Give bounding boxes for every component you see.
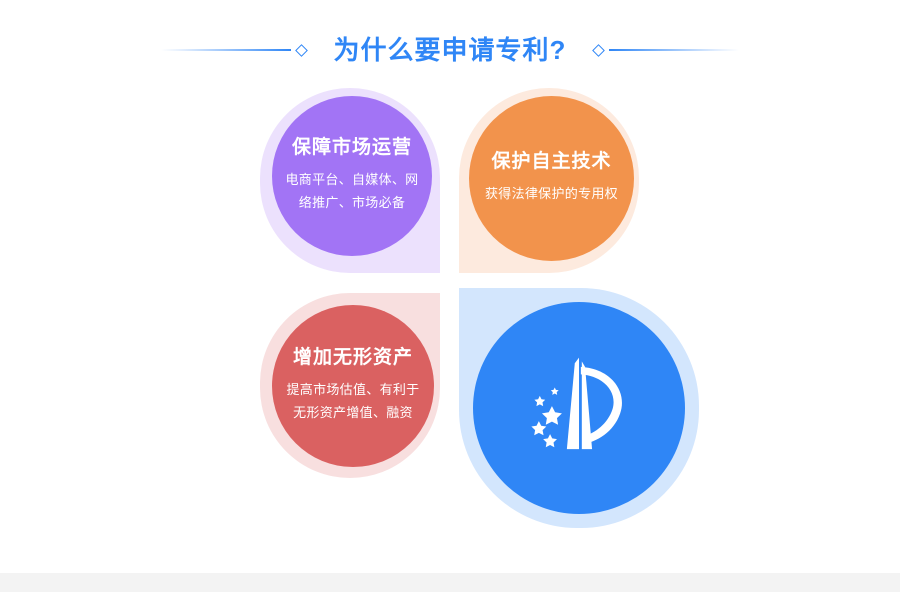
benefit-card-intangible-assets[interactable]: 增加无形资产 提高市场估值、有利于无形资产增值、融资	[260, 293, 440, 478]
diamond-outline-icon-right	[593, 44, 606, 57]
benefit-card-technology-protection[interactable]: 保护自主技术 获得法律保护的专用权	[459, 88, 639, 273]
card-description: 提高市场估值、有利于无形资产增值、融资	[282, 379, 424, 425]
brand-logo-card[interactable]	[459, 288, 699, 528]
heading-line-right	[609, 49, 739, 51]
card-description: 电商平台、自媒体、网络推广、市场必备	[281, 169, 423, 215]
card-disc: 保护自主技术 获得法律保护的专用权	[469, 96, 634, 261]
card-title: 增加无形资产	[293, 347, 413, 370]
benefits-grid: 保障市场运营 电商平台、自媒体、网络推广、市场必备 保护自主技术 获得法律保护的…	[260, 88, 640, 478]
patent-tower-logo-icon	[523, 352, 635, 464]
benefit-card-market-operation[interactable]: 保障市场运营 电商平台、自媒体、网络推广、市场必备	[260, 88, 440, 273]
page-title: 为什么要申请专利?	[316, 37, 585, 63]
heading-rule-left	[161, 49, 316, 51]
bottom-strip	[0, 573, 900, 592]
card-disc: 保障市场运营 电商平台、自媒体、网络推广、市场必备	[272, 96, 432, 256]
diamond-outline-icon-left	[295, 44, 308, 57]
page-heading: 为什么要申请专利?	[0, 30, 900, 70]
card-disc: 增加无形资产 提高市场估值、有利于无形资产增值、融资	[272, 305, 434, 467]
patent-benefits-page: 为什么要申请专利? 保障市场运营 电商平台、自媒体、网络推广、市场必备 保护自主…	[0, 0, 900, 592]
heading-line-left	[161, 49, 291, 51]
heading-rule-right	[584, 49, 739, 51]
card-title: 保护自主技术	[491, 151, 611, 174]
brand-disc	[473, 302, 685, 514]
card-description: 获得法律保护的专用权	[481, 183, 623, 206]
card-title: 保障市场运营	[292, 137, 412, 160]
